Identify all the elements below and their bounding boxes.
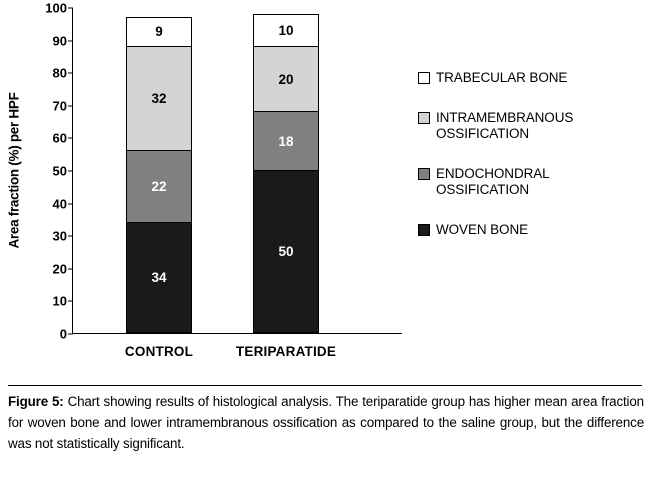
legend-item-label: ENDOCHONDRAL OSSIFICATION [436,166,644,198]
bar-segment-value: 9 [155,24,163,39]
bar-segment[interactable]: 20 [253,46,319,111]
y-axis-tick-mark [68,40,73,41]
bar-segment-value: 20 [278,72,293,87]
plot-area: 01020304050607080901009322234CONTROL1020… [72,8,402,334]
caption-label: Figure 5: [8,394,64,409]
chart-legend: TRABECULAR BONEINTRAMEMBRANOUS OSSIFICAT… [418,70,644,262]
legend-item[interactable]: TRABECULAR BONE [418,70,644,86]
bar-teriparatide[interactable]: 10201850 [253,14,319,333]
caption-text: Chart showing results of histological an… [8,394,644,451]
y-axis-tick-mark [68,203,73,204]
stacked-bar-chart: Area fraction (%) per HPF 01020304050607… [0,0,650,385]
legend-item-label: INTRAMEMBRANOUS OSSIFICATION [436,110,644,142]
y-axis-tick-mark [68,236,73,237]
legend-item[interactable]: ENDOCHONDRAL OSSIFICATION [418,166,644,198]
bar-segment[interactable]: 50 [253,170,319,333]
y-axis-tick-mark [68,8,73,9]
legend-item-label: TRABECULAR BONE [436,70,567,86]
bar-segment-value: 22 [151,179,166,194]
bar-control[interactable]: 9322234 [126,17,192,333]
bar-segment-value: 32 [151,91,166,106]
legend-item[interactable]: WOVEN BONE [418,222,644,238]
legend-swatch-icon [418,72,430,84]
bar-segment[interactable]: 34 [126,222,192,333]
legend-item[interactable]: INTRAMEMBRANOUS OSSIFICATION [418,110,644,142]
y-axis-tick-mark [68,268,73,269]
legend-item-label: WOVEN BONE [436,222,528,238]
bar-segment-value: 34 [151,270,166,285]
y-axis-tick-mark [68,105,73,106]
bar-segment[interactable]: 18 [253,111,319,170]
y-axis-tick-mark [68,138,73,139]
bar-segment-value: 18 [278,134,293,149]
legend-swatch-icon [418,112,430,124]
caption-divider [8,385,642,386]
x-axis-tick-label: CONTROL [104,344,214,359]
bar-segment-value: 50 [278,244,293,259]
bar-segment[interactable]: 9 [126,17,192,46]
figure-page: Area fraction (%) per HPF 01020304050607… [0,0,650,477]
bar-segment[interactable]: 32 [126,46,192,150]
bar-segment[interactable]: 10 [253,14,319,47]
bar-segment-value: 10 [278,23,293,38]
legend-swatch-icon [418,168,430,180]
legend-swatch-icon [418,224,430,236]
y-axis-tick-mark [68,334,73,335]
bar-segment[interactable]: 22 [126,150,192,222]
y-axis-tick-mark [68,301,73,302]
y-axis-label-text: Area fraction (%) per HPF [7,92,22,248]
y-axis-label: Area fraction (%) per HPF [2,40,26,300]
y-axis-tick-mark [68,171,73,172]
x-axis-tick-label: TERIPARATIDE [231,344,341,359]
y-axis-tick-mark [68,73,73,74]
figure-caption: Figure 5: Chart showing results of histo… [8,391,644,454]
